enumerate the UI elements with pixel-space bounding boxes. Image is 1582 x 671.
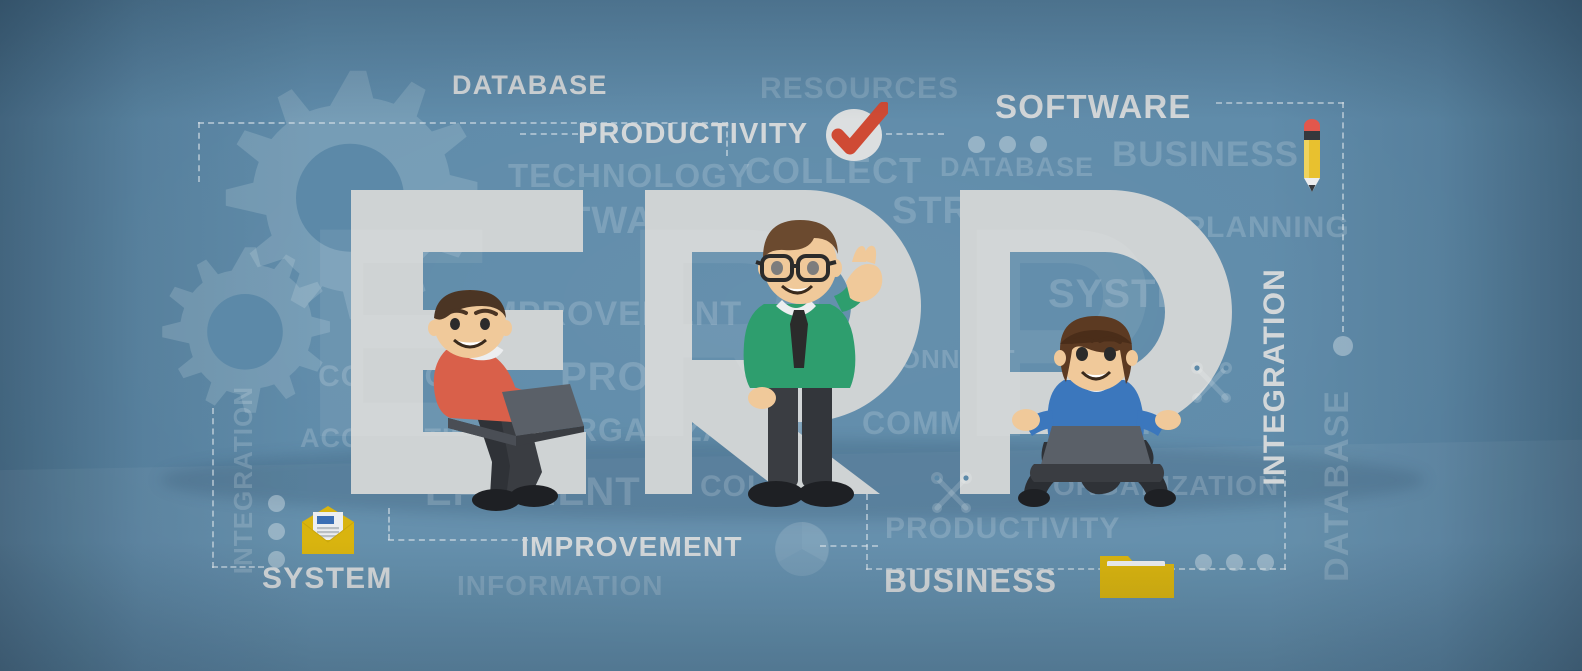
folder-icon <box>1098 550 1176 602</box>
keyword-software: SOFTWARE <box>486 200 709 243</box>
keyword-improvement: IMPROVEMENT <box>478 295 742 334</box>
dashed-frame-bottom-right-h <box>866 568 1286 570</box>
keyword-system: SYSTEM <box>1048 272 1218 317</box>
floor-band <box>0 439 1582 671</box>
keyword-technology: TECHNOLOGY <box>508 157 751 195</box>
keyword-improvement: IMPROVEMENT <box>521 531 743 563</box>
vignette-top <box>0 0 1582 120</box>
keyword-accounting: ACCOUNTING <box>300 423 493 454</box>
keyword-business: BUSINESS <box>884 563 1057 600</box>
keyword-software: SOFTWARE <box>995 88 1192 126</box>
keyword-collect: COLLECT <box>745 150 922 192</box>
person-boy-laptop <box>408 288 588 514</box>
keyword-database: DATABASE <box>452 70 608 101</box>
pencil-icon <box>1297 114 1327 206</box>
keyword-productivity: PRODUCTIVITY <box>885 512 1120 546</box>
person-man-waving <box>726 218 886 518</box>
wrench-cross-icon <box>928 470 976 516</box>
dashed-frame-right <box>1216 102 1344 104</box>
dashed-frame-bottom-right-v2 <box>1284 470 1286 570</box>
dashed-line-productivity <box>520 133 578 135</box>
erp-hero-banner: RESOURCESTECHNOLOGYCOLLECTDATABASEBUSINE… <box>0 0 1582 671</box>
dashed-frame-right-vert <box>1342 102 1344 332</box>
keyword-planning: PLANNING <box>1185 211 1350 245</box>
dots-bottom-left <box>268 495 285 568</box>
dots-top-right <box>968 136 1047 153</box>
dashed-frame-bottom-left-h <box>212 566 264 568</box>
keyword-collect: COLLECT <box>700 470 849 504</box>
keyword-information: INFORMATION <box>457 570 663 602</box>
dashed-line-improvement <box>820 545 878 547</box>
dashed-line-check-right <box>886 133 944 135</box>
keyword-integration: INTEGRATION <box>228 386 259 574</box>
dashed-frame-bottom-mid-vert <box>388 508 390 540</box>
keyword-efficient: EFFICIENT <box>425 470 641 515</box>
check-circle-icon <box>824 102 888 164</box>
keyword-resources: RESOURCES <box>760 72 959 106</box>
keyword-organization: ORGANIZATION <box>1053 470 1279 502</box>
erp-letters <box>0 150 1582 530</box>
dot-single-right <box>1333 336 1353 356</box>
gear-icon-large <box>215 60 485 330</box>
keyword-database: DATABASE <box>940 152 1094 183</box>
keyword-productivity: PRODUCTIVITY <box>578 118 808 151</box>
keyword-database: DATABASE <box>1318 390 1357 582</box>
envelope-icon <box>298 504 358 556</box>
keyword-business: BUSINESS <box>1112 135 1299 175</box>
vignette-bottom <box>0 541 1582 671</box>
keyword-communication: COMMUNICATION <box>862 405 1152 442</box>
keyword-connect: CONNECT <box>880 344 1016 375</box>
dashed-frame-bottom-left <box>212 408 214 568</box>
background-gradient <box>0 0 1582 671</box>
keyword-process: PROCESS <box>560 355 763 400</box>
dashed-frame-bottom-mid <box>388 539 528 541</box>
dashed-frame-top-left <box>198 122 728 124</box>
dots-bottom-right <box>1195 554 1274 571</box>
keyword-collect: COLLECT <box>318 360 467 394</box>
keyword-integration: INTEGRATION <box>1258 268 1292 486</box>
pie-chart-icon <box>772 520 832 578</box>
person-woman-laptop <box>1012 314 1182 514</box>
ghost-letters: ERP <box>300 182 1277 482</box>
keyword-structure: STRUCTURE <box>892 190 1135 233</box>
keyword-system: SYSTEM <box>262 562 393 596</box>
gear-icon-small <box>155 240 335 420</box>
wrench-cross-icon <box>1188 360 1236 406</box>
ground-shadow <box>160 440 1425 520</box>
keyword-organization: ORGANIZATION <box>548 412 805 449</box>
dashed-frame-bottom-right <box>866 494 868 570</box>
dashed-frame-top-left-vert <box>198 122 200 182</box>
dashed-frame-top-left-right <box>726 122 728 156</box>
